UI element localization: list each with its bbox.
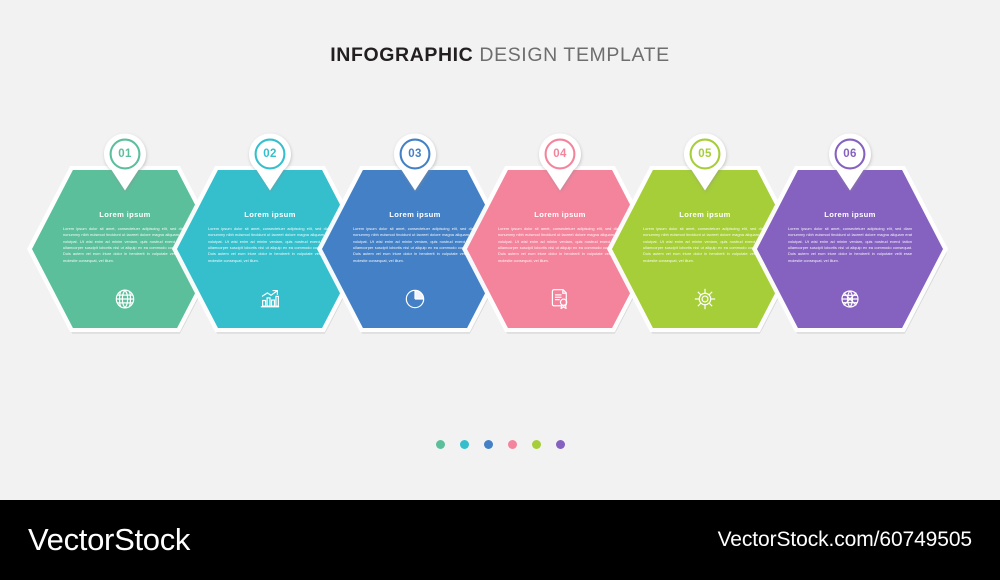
infographic-step-06[interactable]: Lorem ipsumLorem ipsum dolor sit amet, c… [757, 132, 943, 342]
bar-chart-growth-icon [257, 286, 283, 312]
step-heading: Lorem ipsum [534, 210, 586, 219]
certificate-document-icon [547, 286, 573, 312]
step-indicator-dot-2[interactable] [460, 440, 469, 449]
step-number: 04 [534, 132, 586, 176]
step-body-text: Lorem ipsum dolor sit amet, consectetuer… [788, 226, 912, 264]
map-pin-marker-03[interactable]: 03 [389, 132, 441, 194]
pie-chart-icon [402, 286, 428, 312]
step-indicator-dot-6[interactable] [556, 440, 565, 449]
map-pin-marker-05[interactable]: 05 [679, 132, 731, 194]
step-body-text: Lorem ipsum dolor sit amet, consectetuer… [643, 226, 767, 264]
vectorstock-logo: VectorStock [28, 522, 190, 558]
infographic-canvas: INFOGRAPHIC DESIGN TEMPLATE Lorem ipsumL… [0, 0, 1000, 500]
step-indicator-dot-3[interactable] [484, 440, 493, 449]
map-pin-marker-04[interactable]: 04 [534, 132, 586, 194]
step-body-text: Lorem ipsum dolor sit amet, consectetuer… [208, 226, 332, 264]
map-pin-marker-02[interactable]: 02 [244, 132, 296, 194]
step-heading: Lorem ipsum [679, 210, 731, 219]
step-indicator-dot-1[interactable] [436, 440, 445, 449]
step-body-text: Lorem ipsum dolor sit amet, consectetuer… [498, 226, 622, 264]
step-number: 06 [824, 132, 876, 176]
step-heading: Lorem ipsum [244, 210, 296, 219]
step-number: 02 [244, 132, 296, 176]
step-heading: Lorem ipsum [99, 210, 151, 219]
page-title: INFOGRAPHIC DESIGN TEMPLATE [0, 44, 1000, 67]
step-indicator-dots [0, 440, 1000, 449]
step-number: 03 [389, 132, 441, 176]
infographic-step-row: Lorem ipsumLorem ipsum dolor sit amet, c… [0, 132, 1000, 342]
globe-network-icon [837, 286, 863, 312]
step-indicator-dot-4[interactable] [508, 440, 517, 449]
step-body-text: Lorem ipsum dolor sit amet, consectetuer… [353, 226, 477, 264]
watermark-footer: VectorStock VectorStock.com/60749505 [0, 500, 1000, 580]
step-number: 01 [99, 132, 151, 176]
gear-icon [692, 286, 718, 312]
page-title-light: DESIGN TEMPLATE [479, 44, 669, 66]
vectorstock-url: VectorStock.com/60749505 [718, 528, 972, 552]
step-body-text: Lorem ipsum dolor sit amet, consectetuer… [63, 226, 187, 264]
map-pin-marker-06[interactable]: 06 [824, 132, 876, 194]
step-heading: Lorem ipsum [824, 210, 876, 219]
step-heading: Lorem ipsum [389, 210, 441, 219]
globe-icon [112, 286, 138, 312]
map-pin-marker-01[interactable]: 01 [99, 132, 151, 194]
step-indicator-dot-5[interactable] [532, 440, 541, 449]
page-title-bold: INFOGRAPHIC [330, 44, 473, 66]
step-number: 05 [679, 132, 731, 176]
